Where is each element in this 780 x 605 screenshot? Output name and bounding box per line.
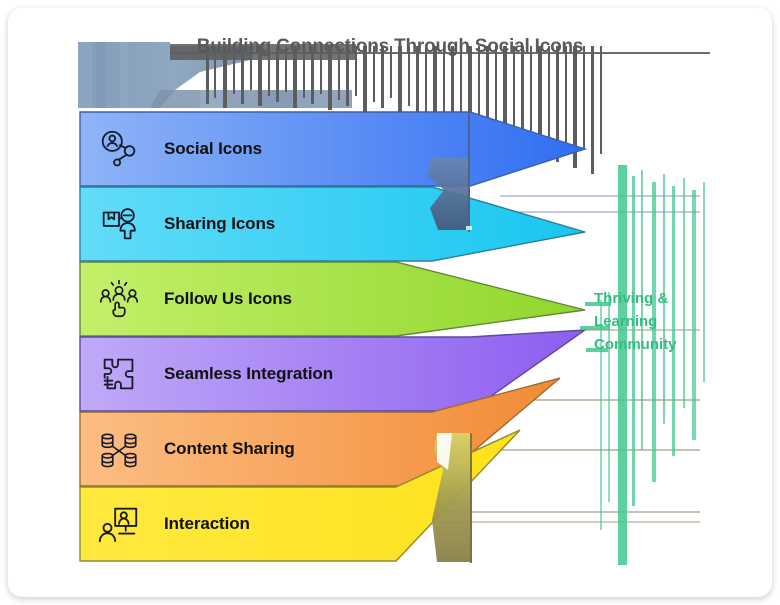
funnel-chart	[0, 0, 780, 605]
render-artifact-green-streaks	[580, 165, 705, 565]
slide-canvas: Building Connections Through Social Icon…	[0, 0, 780, 605]
funnel-stage-3[interactable]	[80, 262, 585, 336]
render-artifact-top-block	[78, 42, 356, 108]
funnel-stage-1[interactable]	[80, 112, 585, 186]
funnel-stage-2[interactable]	[80, 187, 585, 261]
